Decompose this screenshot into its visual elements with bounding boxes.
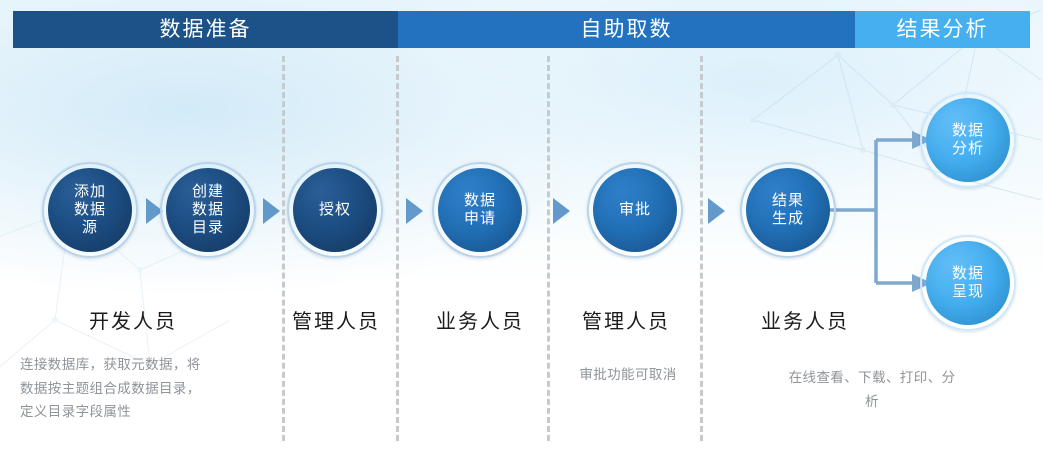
step-node-result-generate[interactable]: 结果 生成 (740, 162, 836, 258)
step-node-authorize[interactable]: 授权 (287, 162, 383, 258)
step-node-data-analysis[interactable]: 数据 分析 (920, 92, 1016, 188)
flow-arrow-4-icon (553, 198, 570, 224)
step-node-label: 审批 (619, 201, 651, 219)
diagram-canvas: 数据准备 自助取数 结果分析 添加 数据 源 创建 数据 目录 (0, 0, 1043, 456)
phase-band-data-preparation: 数据准备 (13, 11, 398, 48)
role-label-business-1: 业务人员 (436, 305, 524, 334)
flow-arrow-5-icon (708, 198, 725, 224)
role-label-business-2: 业务人员 (761, 305, 849, 334)
step-node-data-present[interactable]: 数据 呈现 (920, 235, 1016, 331)
role-label-admin-2: 管理人员 (582, 305, 670, 334)
phase-band-result-analysis: 结果分析 (855, 11, 1030, 48)
step-node-label: 授权 (319, 201, 351, 219)
step-node-approval[interactable]: 审批 (587, 162, 683, 258)
step-node-label: 创建 数据 目录 (192, 183, 224, 238)
description-data-preparation: 连接数据库，获取元数据，将 数据按主题组合成数据目录， 定义目录字段属性 (20, 353, 270, 424)
flow-arrow-2-icon (263, 198, 280, 224)
step-node-label: 数据 分析 (952, 122, 984, 159)
role-label-admin-1: 管理人员 (292, 305, 380, 334)
phase-band-label: 结果分析 (897, 19, 989, 40)
step-node-add-source[interactable]: 添加 数据 源 (42, 162, 138, 258)
step-node-label: 结果 生成 (772, 192, 804, 229)
flow-arrow-3-icon (406, 198, 423, 224)
phase-band-label: 自助取数 (581, 19, 673, 40)
column-divider-4 (700, 56, 703, 441)
role-label-developer: 开发人员 (89, 305, 177, 334)
phase-band-self-service: 自助取数 (398, 11, 855, 48)
step-node-label: 添加 数据 源 (74, 183, 106, 238)
step-node-create-catalog[interactable]: 创建 数据 目录 (160, 162, 256, 258)
column-divider-1 (282, 56, 285, 441)
step-node-data-request[interactable]: 数据 申请 (432, 162, 528, 258)
column-divider-3 (547, 56, 550, 441)
step-node-label: 数据 申请 (464, 192, 496, 229)
description-result: 在线查看、下载、打印、分析 (787, 366, 958, 413)
phase-band-label: 数据准备 (160, 19, 252, 40)
step-node-label: 数据 呈现 (952, 265, 984, 302)
column-divider-2 (396, 56, 399, 441)
description-approval: 审批功能可取消 (579, 363, 676, 387)
